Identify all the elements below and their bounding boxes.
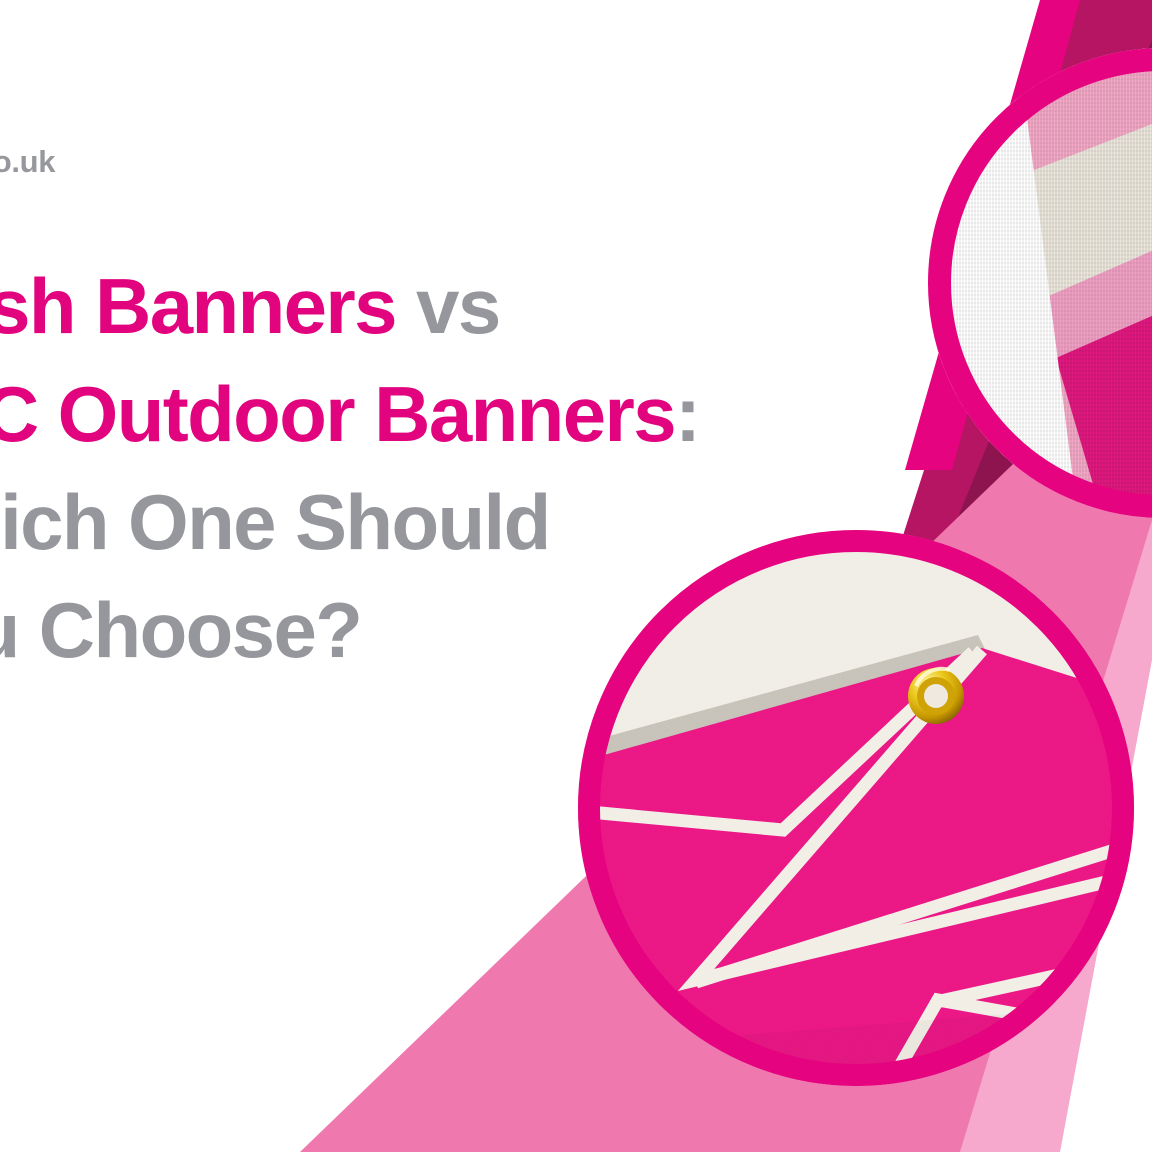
vinyl-banner-photo (578, 530, 1134, 1086)
vinyl-grain-texture (578, 530, 1134, 1086)
photo-circle-mesh-banner (928, 48, 1152, 518)
headline-line-2-pink: PVC Outdoor Banners (0, 370, 675, 458)
eyelet-icon-vinyl (900, 660, 972, 732)
headline-line-1: Mesh Banners vs (0, 252, 882, 360)
headline-line-2-colon: : (675, 370, 699, 458)
headline-line-1-pink: Mesh Banners (0, 262, 396, 350)
mesh-banner-photo (928, 48, 1152, 518)
headline-line-1-grey: vs (396, 262, 500, 350)
site-url: signs.co.uk (0, 144, 55, 180)
headline-line-2: PVC Outdoor Banners: (0, 360, 882, 468)
photo-circle-vinyl-banner (578, 530, 1134, 1086)
hero-graphic: signs.co.uk Mesh Banners vs PVC Outdoor … (0, 0, 1152, 1152)
